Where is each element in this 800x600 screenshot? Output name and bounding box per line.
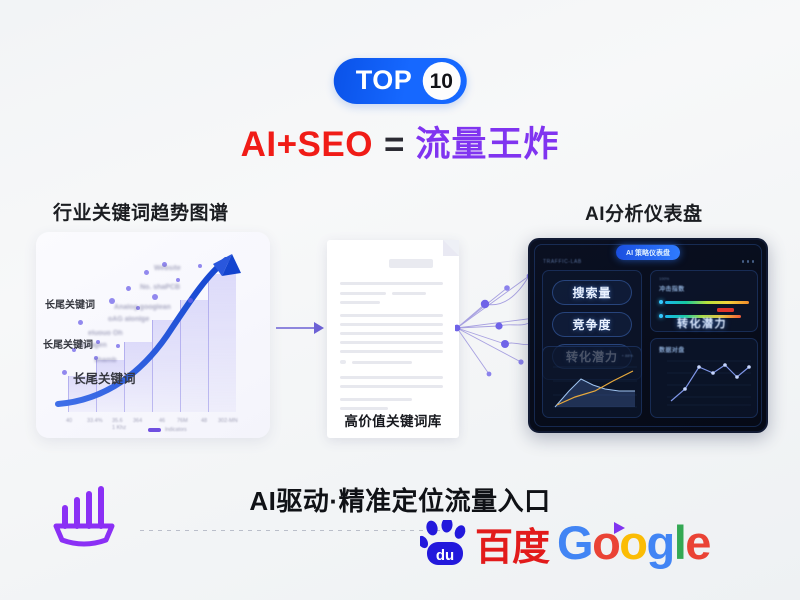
legend-swatch	[148, 428, 161, 432]
headline-ai-seo: AI+SEO	[241, 125, 373, 164]
connector-dotted-line	[140, 530, 440, 531]
keyword-label: 长尾关键词	[43, 336, 93, 351]
baidu-logo-text: 百度	[475, 532, 549, 565]
flow-arrow-icon	[276, 322, 324, 334]
keyword-label: 长尾关键词	[45, 296, 95, 311]
google-logo: Google	[557, 519, 710, 566]
trend-arrow-icon	[36, 232, 270, 438]
trend-dot	[78, 320, 83, 325]
top-badge: TOP 10	[334, 58, 467, 104]
menu-dot	[752, 260, 755, 263]
trend-dot	[126, 286, 131, 291]
trend-dot	[152, 294, 158, 300]
doc-line	[340, 323, 443, 326]
dashboard-brand: TRAFFIC-LAB	[543, 259, 582, 265]
doc-line	[352, 361, 412, 364]
meter-handle[interactable]	[659, 300, 663, 304]
ghost-keyword: Analog googlean	[114, 304, 171, 311]
axis-tick: 33.4%	[87, 418, 103, 424]
google-letter-e: e	[685, 516, 710, 569]
metric-pill-search-volume[interactable]: 搜索量	[552, 280, 632, 305]
right-section-title: AI分析仪表盘	[585, 199, 703, 226]
baidu-paw-icon: du	[420, 520, 474, 566]
headline-result: 流量王炸	[415, 125, 559, 164]
keyword-label: 长尾关键词	[73, 368, 136, 387]
doc-line	[340, 341, 443, 344]
google-letter-g1: G	[557, 516, 592, 569]
alert-chip	[717, 308, 734, 312]
dashboard-header-badge: AI 策略仪表盘	[616, 245, 680, 260]
bar-chart-icon	[48, 482, 120, 548]
trend-dot	[176, 278, 180, 282]
google-letter-g2: g	[647, 516, 674, 569]
ghost-keyword: No. shaPCB	[140, 284, 180, 291]
headline: AI+SEO=流量王炸	[0, 126, 800, 165]
doc-line	[340, 398, 412, 401]
ghost-keyword: Website	[154, 265, 181, 272]
doc-bullet	[340, 360, 346, 364]
trend-chart: Website No. shaPCB Analog googlean oAG a…	[36, 232, 270, 438]
top-badge-label: TOP	[356, 67, 413, 96]
baidu-logo: du 百度	[420, 520, 549, 566]
ai-dashboard: AI 策略仪表盘 TRAFFIC-LAB 搜索量 竞争度 转化潜力 100% 冲…	[528, 238, 768, 433]
doc-line	[340, 350, 443, 353]
doc-line	[340, 314, 443, 317]
keyword-trend-card: Website No. shaPCB Analog googlean oAG a…	[36, 232, 270, 438]
keyword-library-document: 高价值关键词库	[327, 240, 459, 438]
trend-area-panel: + 88%	[542, 346, 642, 418]
panel-micro-label: 100%	[659, 276, 669, 281]
area-chart	[543, 347, 643, 419]
search-engine-logos: du 百度 Google	[420, 519, 710, 566]
axis-note: 1 Khz	[112, 425, 126, 431]
axis-tick: 364	[133, 418, 142, 424]
doc-line	[340, 301, 380, 304]
ghost-keyword: eluouo Oh	[88, 330, 123, 337]
top-badge-number: 10	[422, 62, 460, 100]
axis-tick: 40	[66, 418, 72, 424]
legend-label: Indicators	[165, 427, 187, 433]
cursor-arrow-icon	[614, 522, 625, 534]
google-letter-l: l	[674, 516, 686, 569]
trend-dot	[198, 264, 202, 268]
meter-handle[interactable]	[659, 314, 663, 318]
menu-dot	[747, 260, 750, 263]
trend-dot	[116, 344, 120, 348]
ghost-keyword: shamb	[94, 357, 117, 364]
axis-tick: 35.6	[112, 418, 123, 424]
line-chart	[651, 339, 759, 419]
doc-line	[392, 292, 426, 295]
trend-dot	[62, 370, 67, 375]
panel-title-impact: 冲击指数	[659, 284, 685, 293]
left-section-title: 行业关键词趋势图谱	[53, 198, 229, 225]
doc-line	[340, 292, 386, 295]
trend-dot	[144, 270, 149, 275]
chart-legend: Indicators	[148, 427, 187, 433]
axis-tick: 302-MN	[218, 418, 238, 424]
impact-meter-bar	[665, 301, 749, 304]
doc-line	[340, 282, 443, 285]
axis-tick: 48	[201, 418, 207, 424]
trend-dot	[188, 298, 193, 303]
axis-tick: 76M	[177, 418, 188, 424]
impact-index-panel: 100% 冲击指数 转化潜力	[650, 270, 758, 332]
doc-header-block	[389, 259, 433, 268]
doc-line	[340, 332, 443, 335]
data-comparison-panel: 数据对盘	[650, 338, 758, 418]
axis-tick: 46	[159, 418, 165, 424]
svg-text:du: du	[436, 547, 454, 564]
conversion-potential-text: 转化潜力	[677, 315, 727, 331]
bottom-tagline: AI驱动·精准定位流量入口	[0, 481, 800, 518]
doc-line	[340, 376, 443, 379]
ghost-keyword: oAG alonlge	[108, 316, 149, 323]
dashboard-menu-icon[interactable]	[742, 260, 755, 263]
headline-equals: =	[384, 125, 404, 164]
menu-dot	[742, 260, 745, 263]
doc-line	[340, 385, 443, 388]
document-label: 高价值关键词库	[327, 410, 459, 430]
metric-pill-competition[interactable]: 竞争度	[552, 312, 632, 337]
